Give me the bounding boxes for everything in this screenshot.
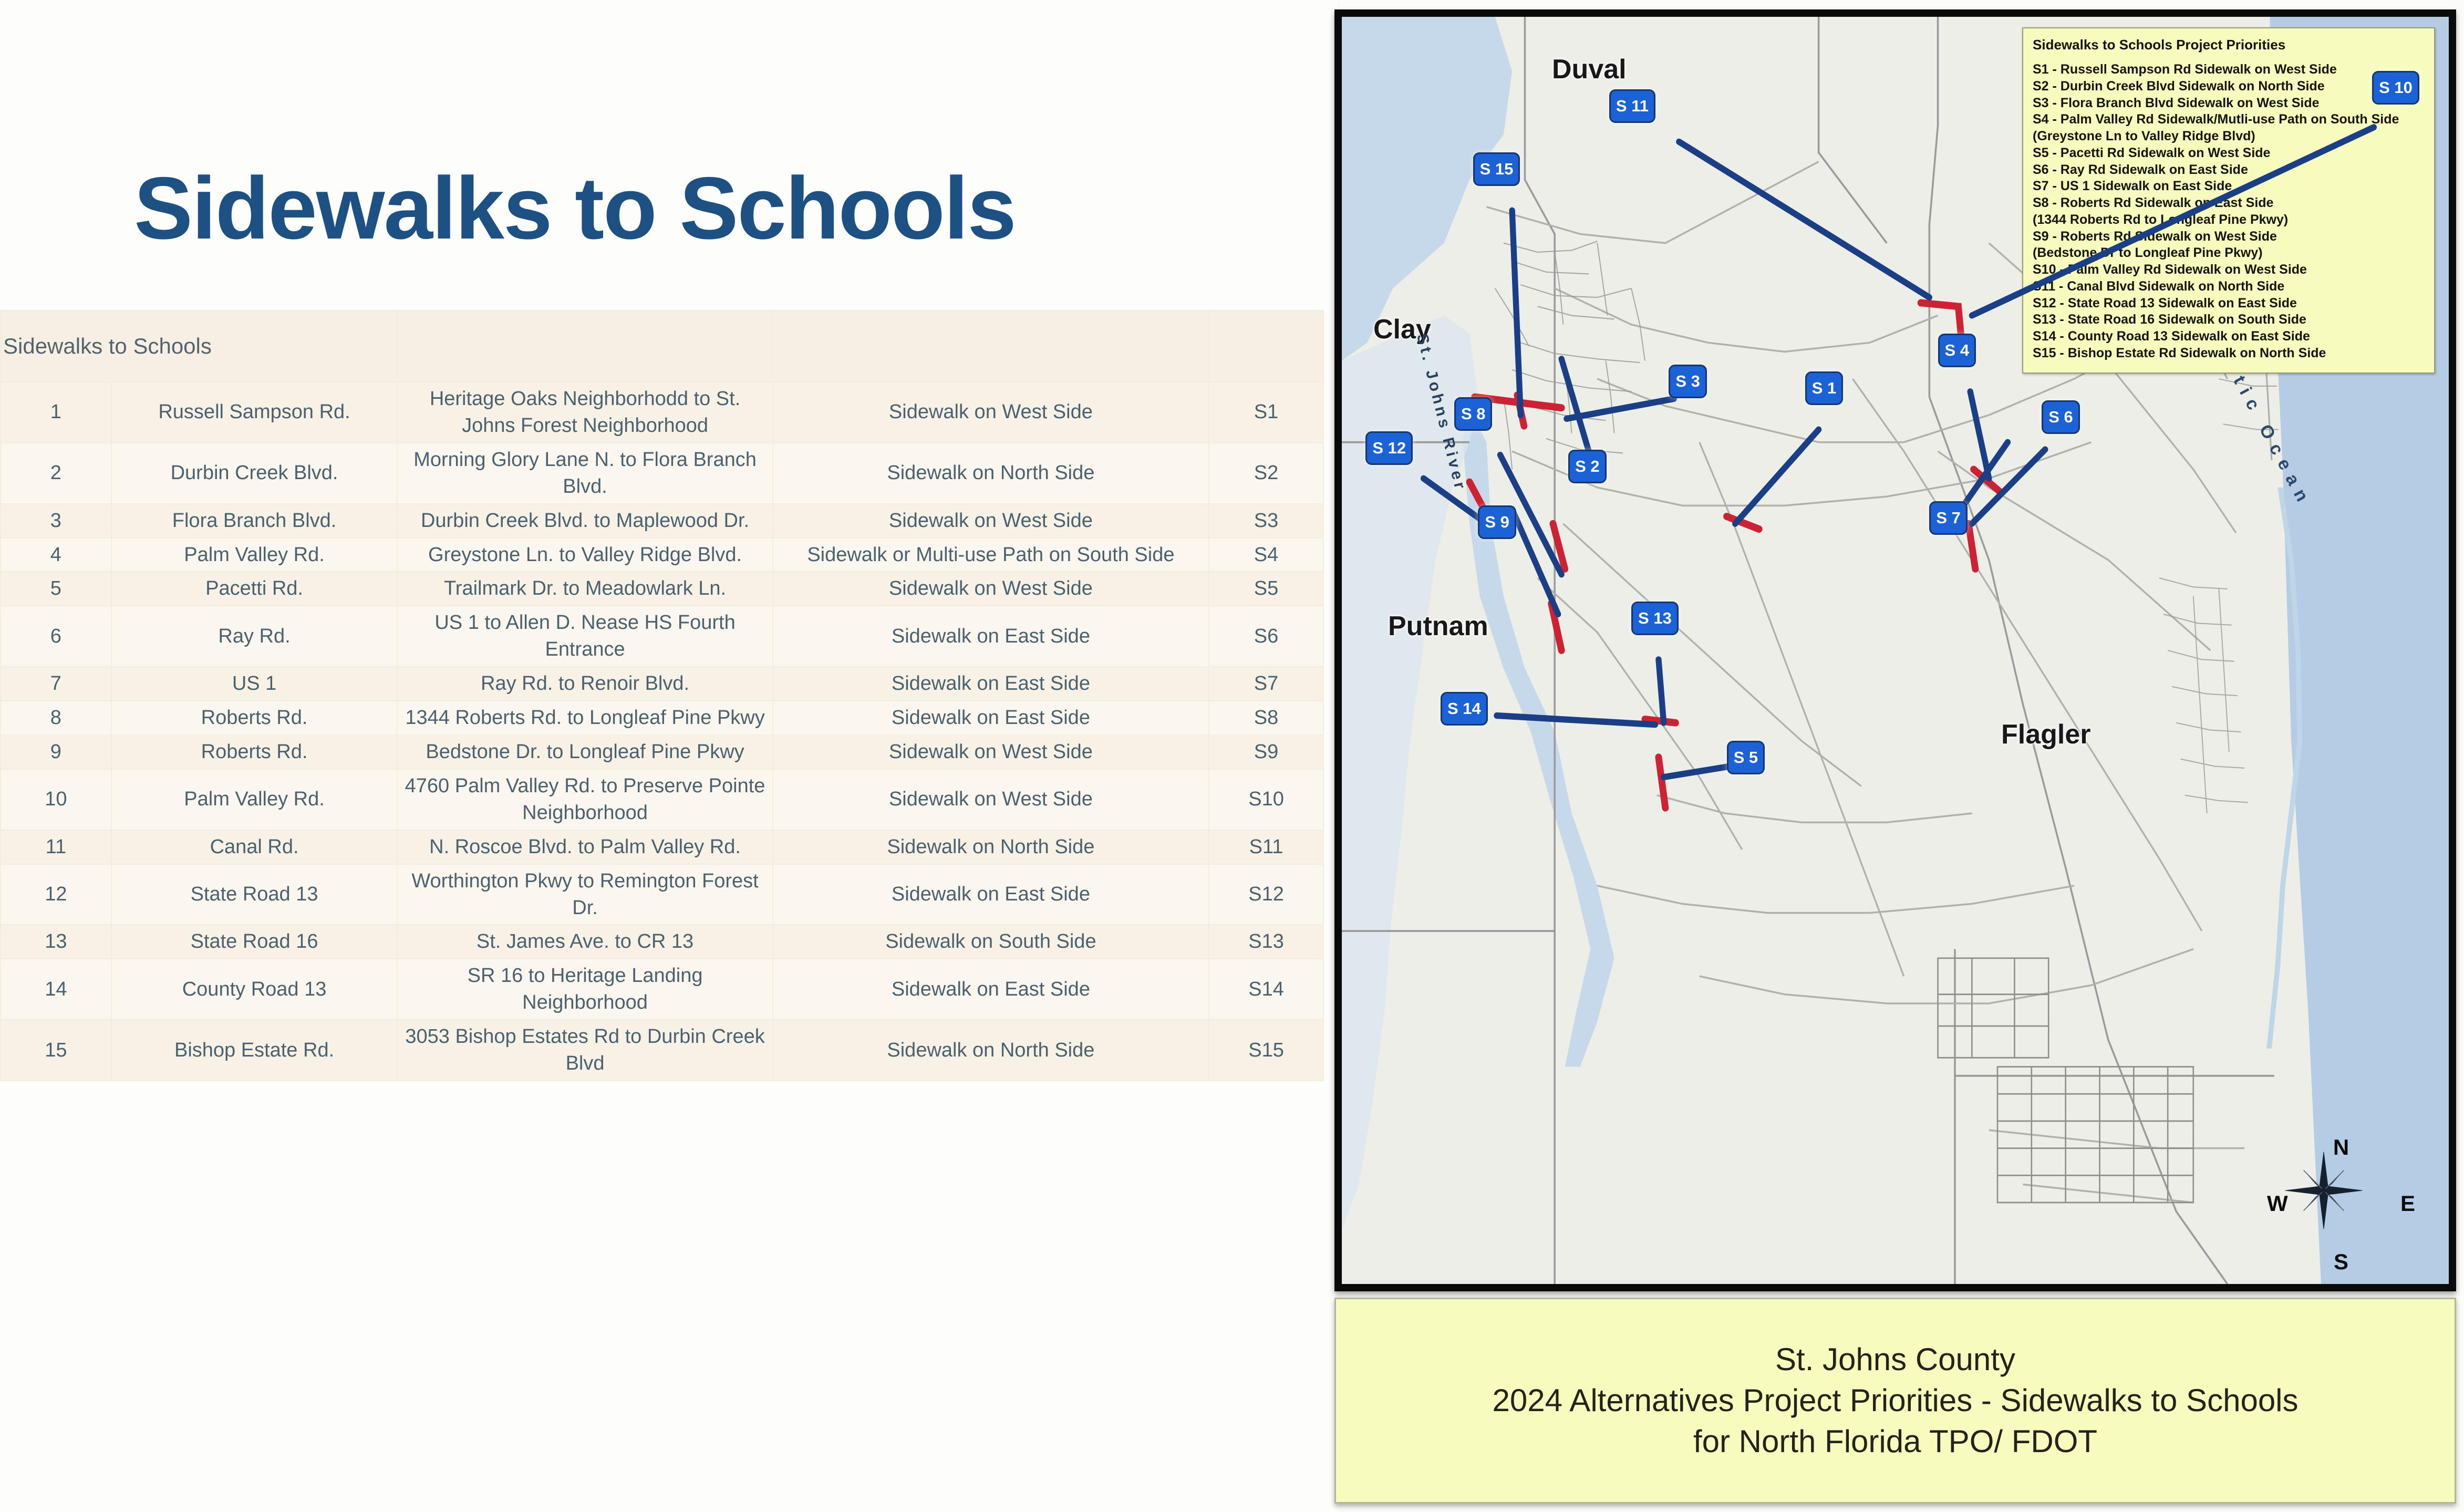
cell-limits: Greystone Ln. to Valley Ridge Blvd.: [397, 538, 772, 572]
legend-entry: S10 - Palm Valley Rd Sidewalk on West Si…: [2033, 262, 2425, 278]
cell-limits: SR 16 to Heritage Landing Neighborhood: [397, 959, 772, 1020]
cell-road-name: US 1: [111, 667, 398, 701]
left-content-panel: Sidewalks to Schools Sidewalks to School…: [0, 0, 1337, 1512]
table-row: 4Palm Valley Rd.Greystone Ln. to Valley …: [1, 538, 1323, 572]
county-label-duval: Duval: [1552, 54, 1627, 85]
cell-project-id: S6: [1209, 606, 1323, 667]
cell-number: 15: [1, 1020, 111, 1081]
cell-road-name: State Road 13: [111, 864, 398, 925]
map-pin-s12[interactable]: S 12: [1365, 431, 1413, 465]
cell-limits: Worthington Pkwy to Remington Forest Dr.: [397, 864, 772, 925]
cell-limits: Durbin Creek Blvd. to Maplewood Dr.: [397, 504, 772, 538]
caption-line-1: St. Johns County: [1775, 1339, 2015, 1380]
map-pin-s11[interactable]: S 11: [1609, 89, 1655, 123]
legend-entry: S9 - Roberts Rd Sidewalk on West Side: [2033, 229, 2425, 245]
map-pin-s14[interactable]: S 14: [1441, 692, 1488, 726]
cell-limits: 4760 Palm Valley Rd. to Preserve Pointe …: [397, 769, 772, 830]
legend-entry: (1344 Roberts Rd to Longleaf Pine Pkwy): [2033, 212, 2425, 229]
map-pin-s2[interactable]: S 2: [1568, 450, 1607, 483]
cell-improvement-type: Sidewalk on East Side: [773, 606, 1209, 667]
cell-road-name: Roberts Rd.: [111, 735, 398, 769]
cell-number: 1: [1, 382, 111, 443]
table-row: 1Russell Sampson Rd.Heritage Oaks Neighb…: [1, 382, 1323, 443]
cell-number: 10: [1, 769, 111, 830]
cell-number: 4: [1, 538, 111, 572]
map-pin-s7[interactable]: S 7: [1929, 501, 1968, 535]
cell-number: 11: [1, 830, 111, 864]
caption-line-2: 2024 Alternatives Project Priorities - S…: [1492, 1380, 2298, 1421]
table-row: 11Canal Rd.N. Roscoe Blvd. to Palm Valle…: [1, 830, 1323, 864]
legend-entry: S13 - State Road 16 Sidewalk on South Si…: [2033, 312, 2425, 328]
cell-improvement-type: Sidewalk on West Side: [773, 382, 1209, 443]
legend-entry: S14 - County Road 13 Sidewalk on East Si…: [2033, 328, 2425, 345]
cell-improvement-type: Sidewalk on South Side: [773, 925, 1209, 959]
cell-project-id: S7: [1209, 667, 1323, 701]
legend-title: Sidewalks to Schools Project Priorities: [2033, 37, 2425, 53]
cell-improvement-type: Sidewalk on North Side: [773, 1020, 1209, 1081]
legend-entry: S12 - State Road 13 Sidewalk on East Sid…: [2033, 295, 2425, 312]
cell-road-name: Ray Rd.: [111, 606, 398, 667]
cell-road-name: Russell Sampson Rd.: [111, 382, 398, 443]
cell-limits: Bedstone Dr. to Longleaf Pine Pkwy: [397, 735, 772, 769]
table-header-blank: [397, 310, 772, 382]
cell-number: 3: [1, 504, 111, 538]
cell-improvement-type: Sidewalk on West Side: [773, 572, 1209, 606]
cell-limits: Morning Glory Lane N. to Flora Branch Bl…: [397, 443, 772, 504]
legend-entry: S11 - Canal Blvd Sidewalk on North Side: [2033, 278, 2425, 295]
compass-label-north: N: [2333, 1135, 2349, 1160]
cell-limits: Trailmark Dr. to Meadowlark Ln.: [397, 572, 772, 606]
cell-road-name: State Road 16: [111, 925, 398, 959]
table-row: 10Palm Valley Rd.4760 Palm Valley Rd. to…: [1, 769, 1323, 830]
legend-entry: S15 - Bishop Estate Rd Sidewalk on North…: [2033, 345, 2425, 362]
cell-project-id: S1: [1209, 382, 1323, 443]
table-row: 6Ray Rd.US 1 to Allen D. Nease HS Fourth…: [1, 606, 1323, 667]
cell-project-id: S9: [1209, 735, 1323, 769]
cell-improvement-type: Sidewalk on West Side: [773, 735, 1209, 769]
compass-rose: N S W E: [2270, 1138, 2412, 1269]
cell-road-name: Palm Valley Rd.: [111, 769, 398, 830]
cell-improvement-type: Sidewalk on East Side: [773, 864, 1209, 925]
cell-road-name: Roberts Rd.: [111, 701, 398, 735]
cell-road-name: Canal Rd.: [111, 830, 398, 864]
legend-entry: S7 - US 1 Sidewalk on East Side: [2033, 178, 2425, 195]
compass-label-west: W: [2267, 1191, 2288, 1216]
table-row: 8Roberts Rd.1344 Roberts Rd. to Longleaf…: [1, 701, 1323, 735]
map-pin-s6[interactable]: S 6: [2042, 400, 2080, 434]
map-canvas[interactable]: Duval Clay Putnam Flagler St. Johns Rive…: [1342, 17, 2449, 1284]
cell-limits: 1344 Roberts Rd. to Longleaf Pine Pkwy: [397, 701, 772, 735]
cell-improvement-type: Sidewalk on West Side: [773, 504, 1209, 538]
table-row: 15Bishop Estate Rd.3053 Bishop Estates R…: [1, 1020, 1323, 1081]
compass-star-icon: [2282, 1148, 2366, 1233]
cell-project-id: S10: [1209, 769, 1323, 830]
map-pin-s4[interactable]: S 4: [1938, 334, 1976, 367]
map-pin-s13[interactable]: S 13: [1631, 602, 1679, 635]
cell-number: 7: [1, 667, 111, 701]
map-panel[interactable]: Duval Clay Putnam Flagler St. Johns Rive…: [1334, 9, 2456, 1291]
cell-number: 13: [1, 925, 111, 959]
map-pin-s9[interactable]: S 9: [1478, 505, 1516, 539]
sidewalks-table: Sidewalks to Schools1Russell Sampson Rd.…: [0, 310, 1324, 1081]
cell-project-id: S8: [1209, 701, 1323, 735]
legend-entries-list: S1 - Russell Sampson Rd Sidewalk on West…: [2033, 61, 2425, 362]
table-header-row: Sidewalks to Schools: [1, 310, 1323, 382]
cell-limits: St. James Ave. to CR 13: [397, 925, 772, 959]
cell-limits: N. Roscoe Blvd. to Palm Valley Rd.: [397, 830, 772, 864]
cell-limits: Ray Rd. to Renoir Blvd.: [397, 667, 772, 701]
table-row: 5Pacetti Rd.Trailmark Dr. to Meadowlark …: [1, 572, 1323, 606]
compass-label-south: S: [2334, 1249, 2348, 1275]
page-title: Sidewalks to Schools: [134, 158, 1337, 259]
cell-project-id: S3: [1209, 504, 1323, 538]
table-row: 3Flora Branch Blvd.Durbin Creek Blvd. to…: [1, 504, 1323, 538]
cell-number: 8: [1, 701, 111, 735]
cell-improvement-type: Sidewalk on East Side: [773, 667, 1209, 701]
cell-number: 2: [1, 443, 111, 504]
cell-number: 14: [1, 959, 111, 1020]
legend-entry: (Bedstone Dr to Longleaf Pine Pkwy): [2033, 245, 2425, 262]
table-header-blank: [1209, 310, 1323, 382]
cell-limits: 3053 Bishop Estates Rd to Durbin Creek B…: [397, 1020, 772, 1081]
cell-limits: Heritage Oaks Neighborhodd to St. Johns …: [397, 382, 772, 443]
legend-entry: S1 - Russell Sampson Rd Sidewalk on West…: [2033, 61, 2425, 78]
legend-entry: S3 - Flora Branch Blvd Sidewalk on West …: [2033, 95, 2425, 112]
map-caption-box: St. Johns County 2024 Alternatives Proje…: [1334, 1298, 2456, 1504]
map-pin-s3[interactable]: S 3: [1669, 365, 1707, 398]
table-row: 14County Road 13SR 16 to Heritage Landin…: [1, 959, 1323, 1020]
cell-improvement-type: Sidewalk on West Side: [773, 769, 1209, 830]
map-pin-s8[interactable]: S 8: [1454, 397, 1493, 431]
map-pin-s1[interactable]: S 1: [1805, 371, 1844, 405]
cell-project-id: S14: [1209, 959, 1323, 1020]
cell-improvement-type: Sidewalk on East Side: [773, 701, 1209, 735]
cell-road-name: Flora Branch Blvd.: [111, 504, 398, 538]
cell-project-id: S5: [1209, 572, 1323, 606]
cell-project-id: S12: [1209, 864, 1323, 925]
cell-number: 12: [1, 864, 111, 925]
compass-label-east: E: [2400, 1191, 2415, 1216]
cell-improvement-type: Sidewalk on North Side: [773, 830, 1209, 864]
map-pin-s15[interactable]: S 15: [1473, 152, 1520, 186]
legend-entry: S5 - Pacetti Rd Sidewalk on West Side: [2033, 145, 2425, 162]
table-row: 2Durbin Creek Blvd.Morning Glory Lane N.…: [1, 443, 1323, 504]
cell-road-name: Durbin Creek Blvd.: [111, 443, 398, 504]
legend-entry: S2 - Durbin Creek Blvd Sidewalk on North…: [2033, 78, 2425, 95]
cell-number: 5: [1, 572, 111, 606]
map-pin-s10[interactable]: S 10: [2372, 71, 2419, 105]
caption-line-3: for North Florida TPO/ FDOT: [1693, 1421, 2097, 1462]
cell-improvement-type: Sidewalk on East Side: [773, 959, 1209, 1020]
cell-number: 6: [1, 606, 111, 667]
table-header-title: Sidewalks to Schools: [1, 310, 397, 382]
legend-entry: (Greystone Ln to Valley Ridge Blvd): [2033, 128, 2425, 145]
county-label-putnam: Putnam: [1388, 610, 1488, 642]
cell-number: 9: [1, 735, 111, 769]
table-body: Sidewalks to Schools1Russell Sampson Rd.…: [1, 310, 1323, 1081]
county-label-flagler: Flagler: [2001, 719, 2091, 750]
cell-project-id: S15: [1209, 1020, 1323, 1081]
table-row: 7US 1Ray Rd. to Renoir Blvd.Sidewalk on …: [1, 667, 1323, 701]
legend-entry: S4 - Palm Valley Rd Sidewalk/Mutli-use P…: [2033, 111, 2425, 128]
cell-road-name: County Road 13: [111, 959, 398, 1020]
legend-entry: S8 - Roberts Rd Sidewalk on East Side: [2033, 195, 2425, 212]
cell-improvement-type: Sidewalk or Multi-use Path on South Side: [773, 538, 1209, 572]
cell-improvement-type: Sidewalk on North Side: [773, 443, 1209, 504]
cell-limits: US 1 to Allen D. Nease HS Fourth Entranc…: [397, 606, 772, 667]
sidewalks-table-container: Sidewalks to Schools1Russell Sampson Rd.…: [0, 310, 1324, 1081]
table-row: 13State Road 16St. James Ave. to CR 13Si…: [1, 925, 1323, 959]
table-row: 9Roberts Rd.Bedstone Dr. to Longleaf Pin…: [1, 735, 1323, 769]
map-pin-s5[interactable]: S 5: [1727, 741, 1765, 774]
cell-project-id: S4: [1209, 538, 1323, 572]
cell-road-name: Palm Valley Rd.: [111, 538, 398, 572]
cell-project-id: S2: [1209, 443, 1323, 504]
cell-project-id: S11: [1209, 830, 1323, 864]
cell-project-id: S13: [1209, 925, 1323, 959]
table-header-blank: [773, 310, 1209, 382]
cell-road-name: Pacetti Rd.: [111, 572, 398, 606]
table-row: 12State Road 13Worthington Pkwy to Remin…: [1, 864, 1323, 925]
legend-entry: S6 - Ray Rd Sidewalk on East Side: [2033, 162, 2425, 179]
cell-road-name: Bishop Estate Rd.: [111, 1020, 398, 1081]
